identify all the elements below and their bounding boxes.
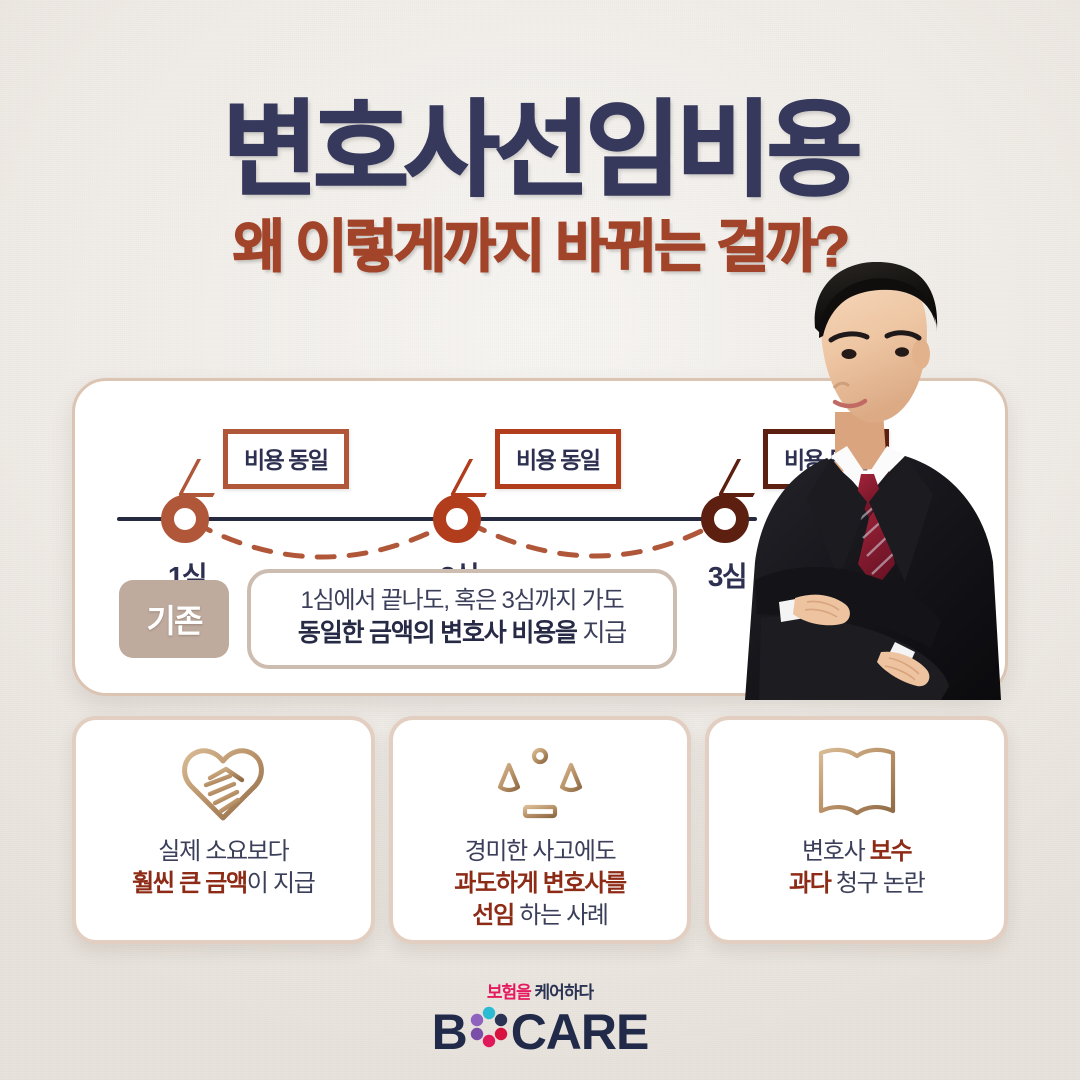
card-3-line-1-plain: 변호사 <box>802 838 870 865</box>
eye-right <box>895 347 909 357</box>
hair-front <box>819 278 937 338</box>
arc-1-2 <box>195 523 449 557</box>
timeline: 비용 동일 비용 동일 비용 동일 1심 2심 3심 <box>117 407 777 587</box>
card-1-line-1: 실제 소요보다 <box>132 836 314 868</box>
reason-card-2[interactable]: 경미한 사고에도 과도하게 변호사를 선임 하는 사례 <box>389 716 692 944</box>
scales-of-justice-icon <box>497 742 583 828</box>
logo-letter-b: B <box>432 1007 467 1057</box>
logo-tagline-pink: 보험을 <box>487 983 531 1002</box>
page-subtitle: 왜 이렇게까지 바뀌는 걸까? <box>0 216 1080 279</box>
card-2-line-1: 경미한 사고에도 <box>454 836 626 868</box>
card-1-line-2: 훨씬 큰 금액이 지급 <box>132 868 314 900</box>
reason-card-1-text: 실제 소요보다 훨씬 큰 금액이 지급 <box>132 836 314 900</box>
timeline-node-2[interactable] <box>433 495 481 543</box>
logo-wordmark: B CARE <box>0 1005 1080 1059</box>
legacy-line-2-tail: 지급 <box>577 619 626 647</box>
reason-card-1[interactable]: 실제 소요보다 훨씬 큰 금액이 지급 <box>72 716 375 944</box>
eyebrow-right <box>887 333 919 338</box>
header: 변호사선임비용 왜 이렇게까지 바뀌는 걸까? <box>0 96 1080 279</box>
reason-card-2-text: 경미한 사고에도 과도하게 변호사를 선임 하는 사례 <box>454 836 626 932</box>
card-3-line-2-tail: 청구 논란 <box>831 870 925 897</box>
card-2-line-2: 과도하게 변호사를 <box>454 868 626 900</box>
eyebrow-left <box>831 334 867 340</box>
card-3-line-1: 변호사 보수 <box>789 836 924 868</box>
timeline-tag-1: 비용 동일 <box>223 429 349 489</box>
logo-letters-care: CARE <box>511 1007 649 1057</box>
timeline-node-1[interactable] <box>161 495 209 543</box>
card-2-line-3: 선임 하는 사례 <box>454 900 626 932</box>
ear <box>912 339 930 369</box>
timeline-tag-2: 비용 동일 <box>495 429 621 489</box>
logo-tagline-navy: 케어하다 <box>531 983 593 1002</box>
reason-card-3-text: 변호사 보수 과다 청구 논란 <box>789 836 924 900</box>
open-book-icon <box>814 742 900 828</box>
legacy-line-2: 동일한 금액의 변호사 비용을 지급 <box>285 617 639 651</box>
legacy-line-2-bold: 동일한 금액의 변호사 비용을 <box>298 619 577 647</box>
timeline-tag-3: 비용 동일 <box>763 429 889 489</box>
timeline-node-3[interactable] <box>701 495 749 543</box>
card-3-line-2-bold: 과다 <box>789 870 831 897</box>
card-1-line-2-tail: 이 지급 <box>247 870 315 897</box>
card-3-line-2: 과다 청구 논란 <box>789 868 924 900</box>
arc-2-3 <box>469 523 717 556</box>
page-title: 변호사선임비용 <box>0 96 1080 206</box>
logo-ring-icon <box>468 1005 510 1059</box>
reason-cards: 실제 소요보다 훨씬 큰 금액이 지급 <box>72 716 1008 944</box>
handshake-heart-icon <box>180 742 266 828</box>
card-3-line-1-bold: 보수 <box>870 838 912 865</box>
logo-tagline: 보험을 케어하다 <box>0 984 1080 1001</box>
timeline-panel: 비용 동일 비용 동일 비용 동일 1심 2심 3심 기존 1심에서 끝나도, … <box>72 378 1008 696</box>
reason-card-3[interactable]: 변호사 보수 과다 청구 논란 <box>705 716 1008 944</box>
eye-left <box>842 349 857 359</box>
card-2-line-3-bold: 선임 <box>472 902 514 929</box>
card-1-line-2-bold: 훨씬 큰 금액 <box>132 870 247 897</box>
footer-logo: 보험을 케어하다 B CARE <box>0 984 1080 1059</box>
card-2-line-3-tail: 하는 사례 <box>514 902 608 929</box>
card-2-line-2-bold: 과도하게 변호사를 <box>454 870 626 897</box>
infographic-page: 변호사선임비용 왜 이렇게까지 바뀌는 걸까? 비용 동일 비용 동일 비용 동… <box>0 0 1080 1080</box>
